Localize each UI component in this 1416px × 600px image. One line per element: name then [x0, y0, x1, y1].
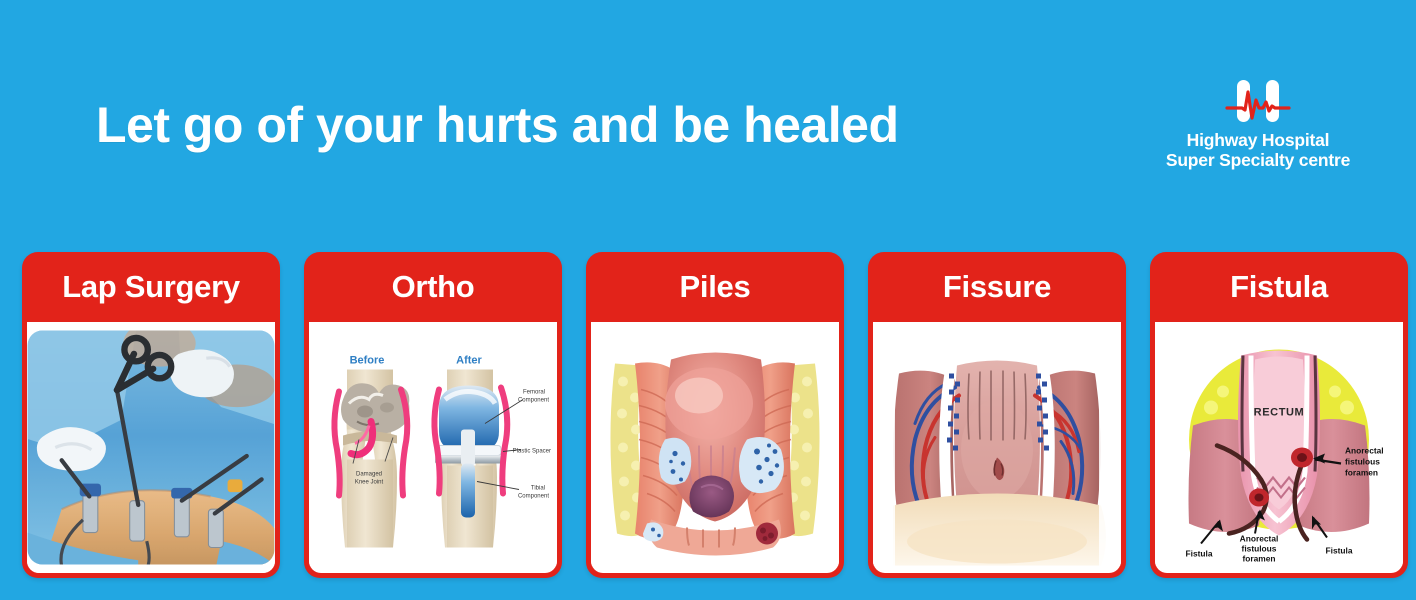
ortho-label-before: Before: [350, 355, 385, 367]
fistula-label-foramen-bottom-3: foramen: [1242, 554, 1275, 564]
promo-banner: Let go of your hurts and be healed Highw…: [0, 0, 1416, 600]
hemorrhoids-cross-section-illustration: [591, 322, 839, 573]
card-title: Lap Surgery: [22, 252, 280, 322]
ortho-label-tibial-1: Tibial: [531, 486, 545, 492]
logo-name-line2: Super Specialty centre: [1136, 150, 1380, 170]
card-image-ortho: Before: [309, 322, 557, 573]
fistula-label-left: Fistula: [1186, 549, 1213, 559]
ortho-label-damaged-2: Knee Joint: [355, 480, 384, 486]
anorectal-fistula-diagram: RECTUM: [1155, 322, 1403, 573]
hospital-h-ecg-icon: [1225, 78, 1291, 126]
anal-fissure-illustration: [873, 322, 1121, 573]
fistula-label-foramen-bottom-2: fistulous: [1242, 544, 1277, 554]
fistula-label-foramen-bottom-1: Anorectal: [1240, 534, 1279, 544]
knee-replacement-diagram: Before: [309, 322, 557, 573]
ortho-label-after: After: [456, 355, 482, 367]
card-image-fissure: [873, 322, 1121, 573]
service-card-fistula[interactable]: Fistula: [1150, 252, 1408, 578]
fistula-label-foramen-right-1: Anorectal: [1345, 446, 1384, 456]
card-title: Fistula: [1150, 252, 1408, 322]
card-image-lap-surgery: [27, 322, 275, 573]
fistula-label-right: Fistula: [1326, 546, 1353, 556]
fistula-label-rectum: RECTUM: [1254, 407, 1305, 419]
fistula-label-foramen-right-3: foramen: [1345, 468, 1378, 478]
ortho-label-damaged-1: Damaged: [356, 472, 382, 478]
card-title: Piles: [586, 252, 844, 322]
card-title: Fissure: [868, 252, 1126, 322]
service-card-fissure[interactable]: Fissure: [868, 252, 1126, 578]
service-card-ortho[interactable]: Ortho: [304, 252, 562, 578]
headline: Let go of your hurts and be healed: [96, 96, 899, 154]
service-card-piles[interactable]: Piles: [586, 252, 844, 578]
ortho-label-tibial-2: Component: [518, 494, 549, 500]
service-card-row: Lap Surgery: [22, 252, 1408, 578]
card-title: Ortho: [304, 252, 562, 322]
card-image-fistula: RECTUM: [1155, 322, 1403, 573]
laparoscopic-surgery-photo: [27, 322, 275, 573]
logo-name-line1: Highway Hospital: [1136, 130, 1380, 150]
ortho-label-plastic-spacer: Plastic Spacer: [513, 449, 551, 455]
fistula-label-foramen-right-2: fistulous: [1345, 457, 1380, 467]
card-image-piles: [591, 322, 839, 573]
ortho-label-femoral-2: Component: [518, 398, 549, 404]
ortho-label-femoral-1: Femoral: [523, 390, 545, 396]
logo[interactable]: Highway Hospital Super Specialty centre: [1136, 78, 1380, 170]
service-card-lap-surgery[interactable]: Lap Surgery: [22, 252, 280, 578]
